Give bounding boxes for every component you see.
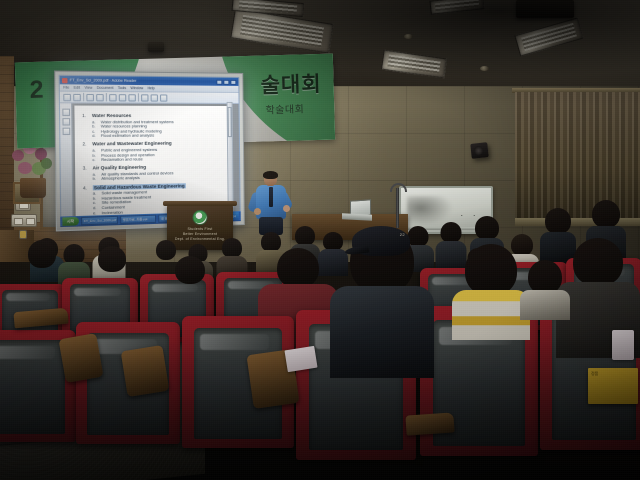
page-fit-icon[interactable] xyxy=(128,94,136,101)
toc-section-heading[interactable]: 1.Water Resources xyxy=(82,113,225,118)
baseball-cap: 22 xyxy=(352,226,410,256)
print-icon[interactable] xyxy=(73,93,81,100)
ceiling-light-fixture xyxy=(429,0,484,15)
toc-item-text: Atmospheric analysis xyxy=(101,176,139,181)
toc-item-number: b. xyxy=(92,124,97,128)
toolbar-separator xyxy=(106,93,107,101)
toc-item-number: a. xyxy=(93,191,98,195)
head xyxy=(573,238,623,286)
menu-item-file[interactable]: File xyxy=(63,84,69,91)
window-controls[interactable] xyxy=(216,79,236,84)
university-crest-icon xyxy=(193,210,208,225)
menu-item-edit[interactable]: Edit xyxy=(74,84,80,91)
head xyxy=(277,248,319,288)
banner-title: 술대회 xyxy=(260,68,322,100)
close-icon[interactable] xyxy=(230,79,236,84)
whiteboard-marking xyxy=(461,204,475,216)
toc-item-number: c. xyxy=(92,158,97,162)
flower-arrangement xyxy=(10,140,58,198)
wall-indicator xyxy=(19,230,27,239)
audience-member xyxy=(168,256,212,298)
toc-item-number: a. xyxy=(92,148,97,152)
toc-item-text: Flood estimation and analysis xyxy=(101,134,154,138)
toc-item-number: b. xyxy=(93,177,98,181)
taskbar-item[interactable]: 발표자료_최종.ppt xyxy=(120,215,156,224)
auditorium-photo: 2 일시 술대회 학술대회 FT_Env_Sci_2009.pdf - Adob… xyxy=(0,0,640,480)
presenter-tie xyxy=(269,187,273,207)
sprinkler-head xyxy=(404,34,413,39)
head xyxy=(175,256,205,284)
seat-armrest[interactable] xyxy=(58,333,103,383)
toc-item-number: b. xyxy=(93,196,98,200)
toc-item-number: d. xyxy=(92,134,97,138)
ceiling-projector-mount xyxy=(148,42,164,52)
audience-member xyxy=(92,246,132,296)
wall-mounted-speaker xyxy=(470,142,488,159)
menu-item-tools[interactable]: Tools xyxy=(118,84,127,91)
menu-item-help[interactable]: Help xyxy=(147,85,154,92)
hand-tool-icon[interactable] xyxy=(96,94,104,101)
toc-section-title: Air Quality Engineering xyxy=(93,165,147,171)
toc-item-text: Water resources planning xyxy=(101,124,147,128)
sprinkler-head xyxy=(480,66,489,71)
menu-item-window[interactable]: Window xyxy=(130,84,143,91)
toc-section-title: Water Resources xyxy=(92,113,131,118)
select-tool-icon[interactable] xyxy=(86,93,94,100)
adobe-reader-icon xyxy=(62,77,68,82)
start-button[interactable]: 시작 xyxy=(62,217,78,226)
head xyxy=(222,238,242,258)
toc-item-number: c. xyxy=(93,201,98,205)
presenter-hand-left xyxy=(254,208,261,215)
ceiling-projector-mount xyxy=(516,0,574,18)
head xyxy=(98,246,126,272)
seat-highlight xyxy=(6,293,51,301)
outlet-socket[interactable] xyxy=(26,218,35,225)
yellow-package[interactable]: 정품 xyxy=(588,368,638,404)
toc-section: 2.Water and Wastewater Engineeringa.Publ… xyxy=(82,141,225,163)
banner-subtitle: 학술대회 xyxy=(265,100,304,116)
toolbar-separator xyxy=(138,93,139,101)
gooseneck-microphone xyxy=(396,188,399,228)
bookmarks-icon[interactable] xyxy=(62,109,70,116)
outlet-socket[interactable] xyxy=(14,218,23,225)
toc-item[interactable]: c.Reclamation and reuse xyxy=(92,156,225,162)
toc-section-heading[interactable]: 2.Water and Wastewater Engineering xyxy=(82,141,225,147)
wall-outlet-panel[interactable] xyxy=(11,214,37,227)
head xyxy=(475,216,499,240)
toc-item-number: a. xyxy=(93,172,98,176)
presenter-laptop[interactable] xyxy=(342,200,372,220)
toc-item-text: Reclamation and reuse xyxy=(101,157,143,162)
save-icon[interactable] xyxy=(63,93,71,100)
toc-item-number: a. xyxy=(92,120,97,124)
pink-notebook[interactable] xyxy=(284,346,317,372)
head xyxy=(528,260,562,294)
seat-armrest[interactable] xyxy=(405,412,454,435)
toolbar-separator xyxy=(83,93,84,101)
body xyxy=(452,290,530,340)
audience-member xyxy=(520,260,570,320)
toc-section-number: 3. xyxy=(83,166,90,171)
toc-item-number: c. xyxy=(92,129,97,133)
presenter-hair xyxy=(263,171,278,179)
zoom-out-icon[interactable] xyxy=(109,94,117,101)
head xyxy=(465,244,517,296)
seat-highlight xyxy=(0,346,55,359)
pdf-page: 1.Water Resourcesa.Water distribution an… xyxy=(74,106,230,217)
scrollbar-thumb[interactable] xyxy=(228,107,232,137)
head xyxy=(440,222,461,243)
cap-logo-text: 22 xyxy=(400,232,405,237)
package-label: 정품 xyxy=(591,371,598,377)
toc-section-number: 4. xyxy=(83,185,90,190)
head xyxy=(545,208,571,234)
taskbar-item[interactable]: FT_Env_Sci_2009.pdf - Ad xyxy=(81,216,118,226)
next-page-icon[interactable] xyxy=(151,94,158,101)
toc-section: 3.Air Quality Engineeringa.Air quality s… xyxy=(83,164,226,182)
vertical-scrollbar[interactable] xyxy=(227,102,234,212)
toc-item-text: Water distribution and treatment systems xyxy=(101,120,174,124)
presenter xyxy=(250,172,292,234)
ceiling-light-fixture xyxy=(230,8,333,53)
seat-highlight xyxy=(200,334,269,350)
search-icon[interactable] xyxy=(160,94,167,101)
maximize-icon[interactable] xyxy=(223,79,229,84)
seat-armrest[interactable] xyxy=(121,345,170,397)
toc-section-title: Water and Wastewater Engineering xyxy=(92,141,171,147)
podium-top xyxy=(163,201,237,206)
zoom-in-icon[interactable] xyxy=(119,94,127,101)
ceiling-light-fixture xyxy=(381,50,447,79)
navigation-pane[interactable] xyxy=(60,103,73,218)
toc-section-number: 2. xyxy=(82,142,89,147)
head xyxy=(295,226,315,246)
body xyxy=(520,290,570,320)
minimize-icon[interactable] xyxy=(216,79,222,84)
prev-page-icon[interactable] xyxy=(141,94,148,101)
yellow-stripe-person xyxy=(452,244,530,340)
laptop-keyboard[interactable] xyxy=(342,213,372,221)
toc-item[interactable]: d.Flood estimation and analysis xyxy=(92,133,225,138)
toc-item-number: b. xyxy=(92,153,97,157)
toc-item-number: e. xyxy=(93,211,98,215)
banner-number: 2 xyxy=(29,76,44,105)
toc-section-number: 1. xyxy=(82,113,89,118)
ceiling-light-fixture xyxy=(232,0,305,17)
body xyxy=(330,286,434,378)
flower-pot xyxy=(20,178,46,198)
attachments-icon[interactable] xyxy=(62,128,70,135)
menu-item-view[interactable]: View xyxy=(84,84,92,91)
toc-item-number: d. xyxy=(93,206,98,210)
toolbar[interactable] xyxy=(60,92,239,104)
head xyxy=(28,240,56,268)
presenter-hand-right xyxy=(283,205,290,212)
ceiling-light-fixture xyxy=(514,17,584,56)
mobile-phone[interactable] xyxy=(612,330,634,360)
toc-section: 1.Water Resourcesa.Water distribution an… xyxy=(82,113,225,139)
head xyxy=(592,200,620,228)
thumbnails-icon[interactable] xyxy=(62,118,70,125)
menu-item-document[interactable]: Document xyxy=(97,84,114,91)
audience-member xyxy=(22,240,62,290)
